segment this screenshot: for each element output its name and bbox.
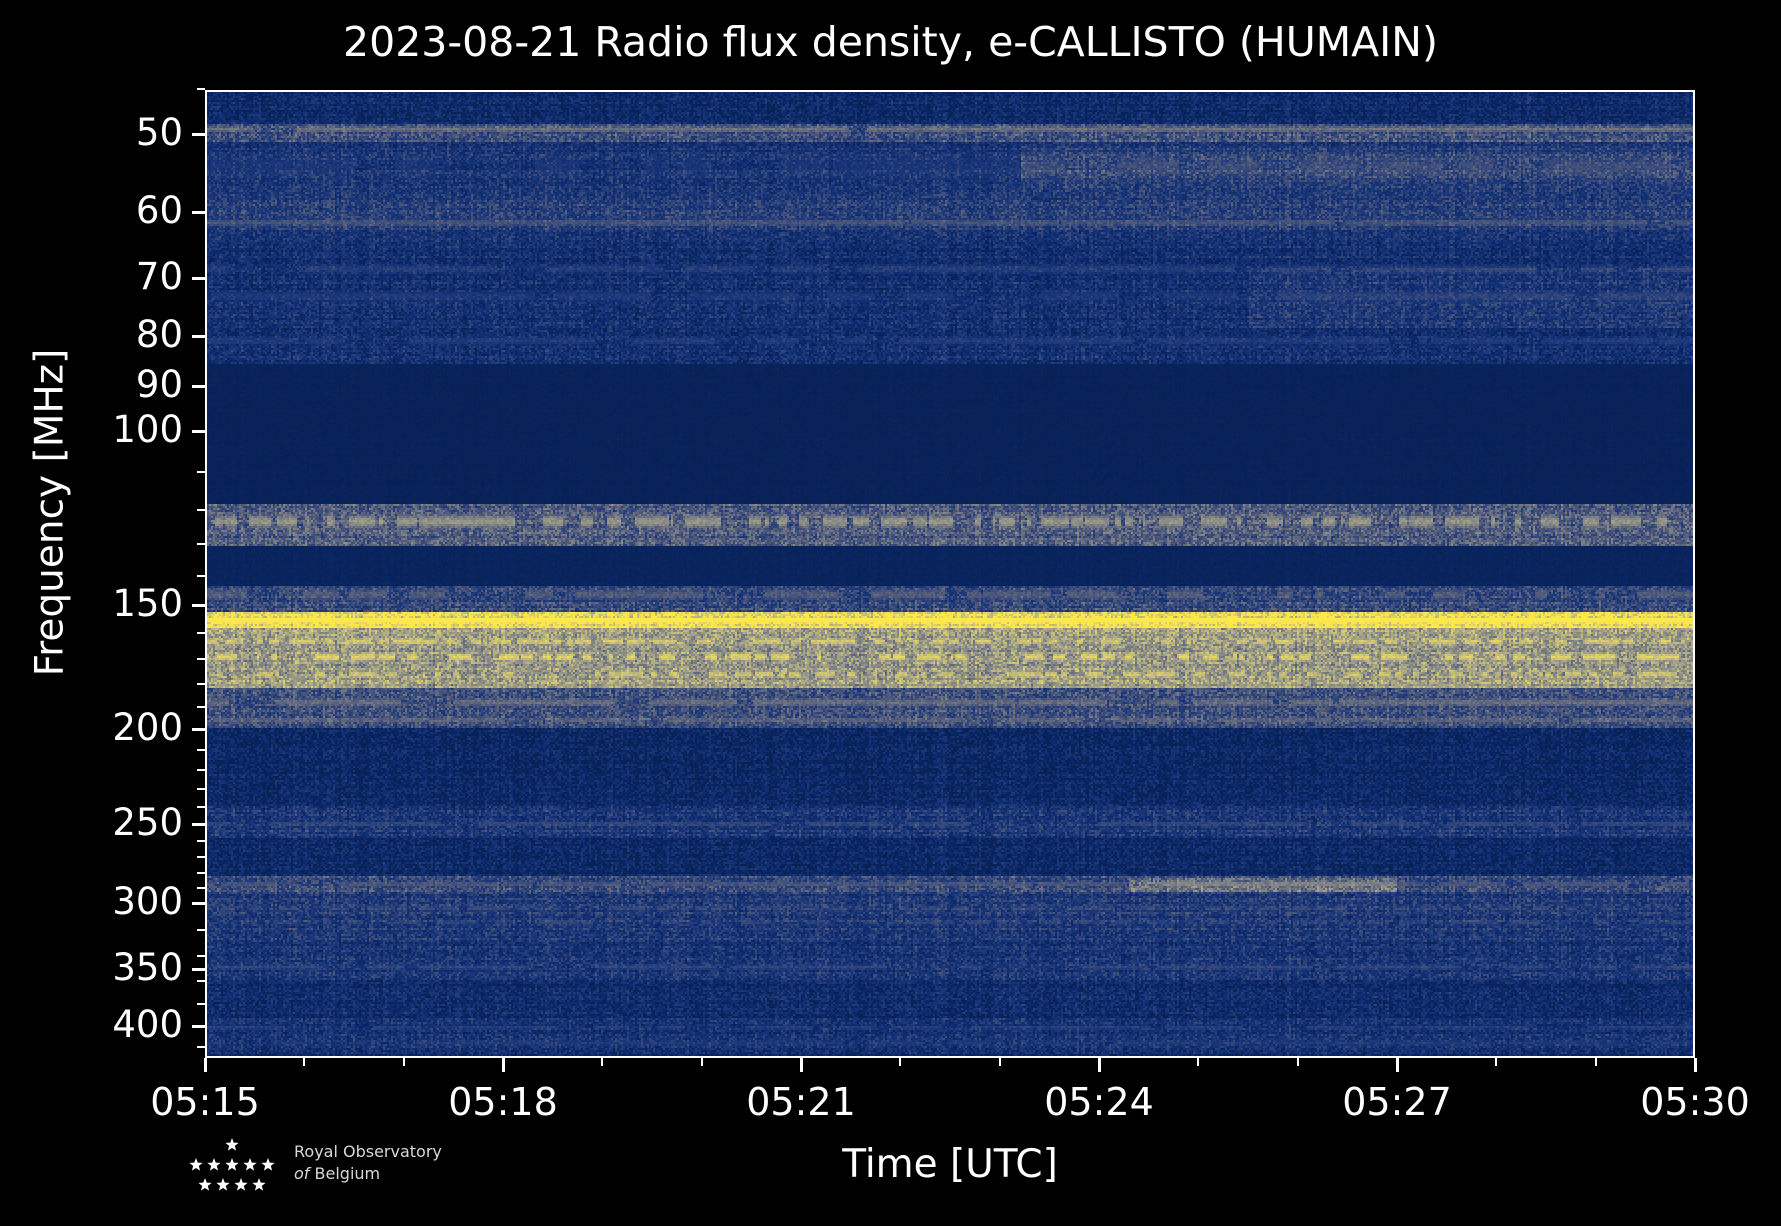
x-tick-mark xyxy=(502,1058,505,1072)
y-tick-mark xyxy=(192,604,205,607)
x-minor-tick-mark xyxy=(1297,1058,1299,1066)
spectrogram-axes[interactable] xyxy=(205,90,1695,1058)
logo-text: Royal Observatory of Belgium xyxy=(294,1141,442,1185)
y-tick-mark xyxy=(192,335,205,338)
x-minor-tick-mark xyxy=(403,1058,405,1066)
y-tick-label: 60 xyxy=(136,189,183,233)
y-minor-tick-mark xyxy=(197,872,205,874)
y-minor-tick-mark xyxy=(197,88,205,90)
y-tick-mark xyxy=(192,1025,205,1028)
y-minor-tick-mark xyxy=(197,543,205,545)
y-minor-tick-mark xyxy=(197,955,205,957)
y-tick-mark xyxy=(192,430,205,433)
logo-line-1: Royal Observatory xyxy=(294,1141,442,1163)
x-tick-label: 05:30 xyxy=(1585,1080,1781,1124)
x-minor-tick-mark xyxy=(601,1058,603,1066)
y-tick-label: 400 xyxy=(112,1003,183,1047)
eu-stars-icon xyxy=(182,1135,282,1197)
x-tick-mark xyxy=(1098,1058,1101,1072)
x-tick-mark xyxy=(204,1058,207,1072)
x-minor-tick-mark xyxy=(1197,1058,1199,1066)
y-tick-label: 50 xyxy=(136,111,183,155)
x-tick-label: 05:15 xyxy=(95,1080,315,1124)
y-tick-mark xyxy=(192,385,205,388)
y-minor-tick-mark xyxy=(197,806,205,808)
royal-observatory-logo: Royal Observatory of Belgium xyxy=(182,1135,602,1215)
y-tick-label: 150 xyxy=(112,582,183,626)
y-tick-mark xyxy=(192,133,205,136)
y-minor-tick-mark xyxy=(197,632,205,634)
x-minor-tick-mark xyxy=(303,1058,305,1066)
y-tick-mark xyxy=(192,968,205,971)
y-tick-label: 70 xyxy=(136,255,183,299)
x-tick-mark xyxy=(1396,1058,1399,1072)
x-minor-tick-mark xyxy=(999,1058,1001,1066)
y-tick-label: 300 xyxy=(112,880,183,924)
logo-of-word: of xyxy=(294,1164,309,1183)
y-minor-tick-mark xyxy=(197,840,205,842)
y-minor-tick-mark xyxy=(197,769,205,771)
x-minor-tick-mark xyxy=(1495,1058,1497,1066)
x-tick-mark xyxy=(800,1058,803,1072)
y-tick-label: 90 xyxy=(136,363,183,407)
y-minor-tick-mark xyxy=(197,683,205,685)
y-minor-tick-mark xyxy=(197,706,205,708)
x-minor-tick-mark xyxy=(1595,1058,1597,1066)
y-minor-tick-mark xyxy=(197,1046,205,1048)
y-tick-mark xyxy=(192,211,205,214)
spectrogram-image xyxy=(207,92,1693,1056)
y-tick-mark xyxy=(192,728,205,731)
y-tick-label: 250 xyxy=(112,801,183,845)
figure-canvas: 2023-08-21 Radio flux density, e-CALLIST… xyxy=(0,0,1781,1226)
y-minor-tick-mark xyxy=(197,887,205,889)
y-minor-tick-mark xyxy=(197,1003,205,1005)
y-tick-label: 80 xyxy=(136,313,183,357)
y-minor-tick-mark xyxy=(197,658,205,660)
y-minor-tick-mark xyxy=(197,749,205,751)
y-minor-tick-mark xyxy=(197,575,205,577)
y-tick-mark xyxy=(192,277,205,280)
x-minor-tick-mark xyxy=(701,1058,703,1066)
y-tick-label: 100 xyxy=(112,408,183,452)
y-minor-tick-mark xyxy=(197,788,205,790)
y-axis-label: Frequency [MHz] xyxy=(28,133,73,893)
x-minor-tick-mark xyxy=(899,1058,901,1066)
x-tick-label: 05:18 xyxy=(393,1080,613,1124)
y-minor-tick-mark xyxy=(197,856,205,858)
y-tick-label: 200 xyxy=(112,706,183,750)
x-tick-mark xyxy=(1694,1058,1697,1072)
x-tick-label: 05:24 xyxy=(989,1080,1209,1124)
y-minor-tick-mark xyxy=(197,929,205,931)
y-tick-mark xyxy=(192,823,205,826)
y-tick-label: 350 xyxy=(112,946,183,990)
y-minor-tick-mark xyxy=(197,980,205,982)
logo-line-2: of Belgium xyxy=(294,1163,442,1185)
logo-belgium-word: Belgium xyxy=(315,1164,381,1183)
y-tick-mark xyxy=(192,902,205,905)
y-minor-tick-mark xyxy=(197,471,205,473)
x-tick-label: 05:27 xyxy=(1287,1080,1507,1124)
page-title: 2023-08-21 Radio flux density, e-CALLIST… xyxy=(0,18,1781,66)
x-tick-label: 05:21 xyxy=(691,1080,911,1124)
y-minor-tick-mark xyxy=(197,509,205,511)
